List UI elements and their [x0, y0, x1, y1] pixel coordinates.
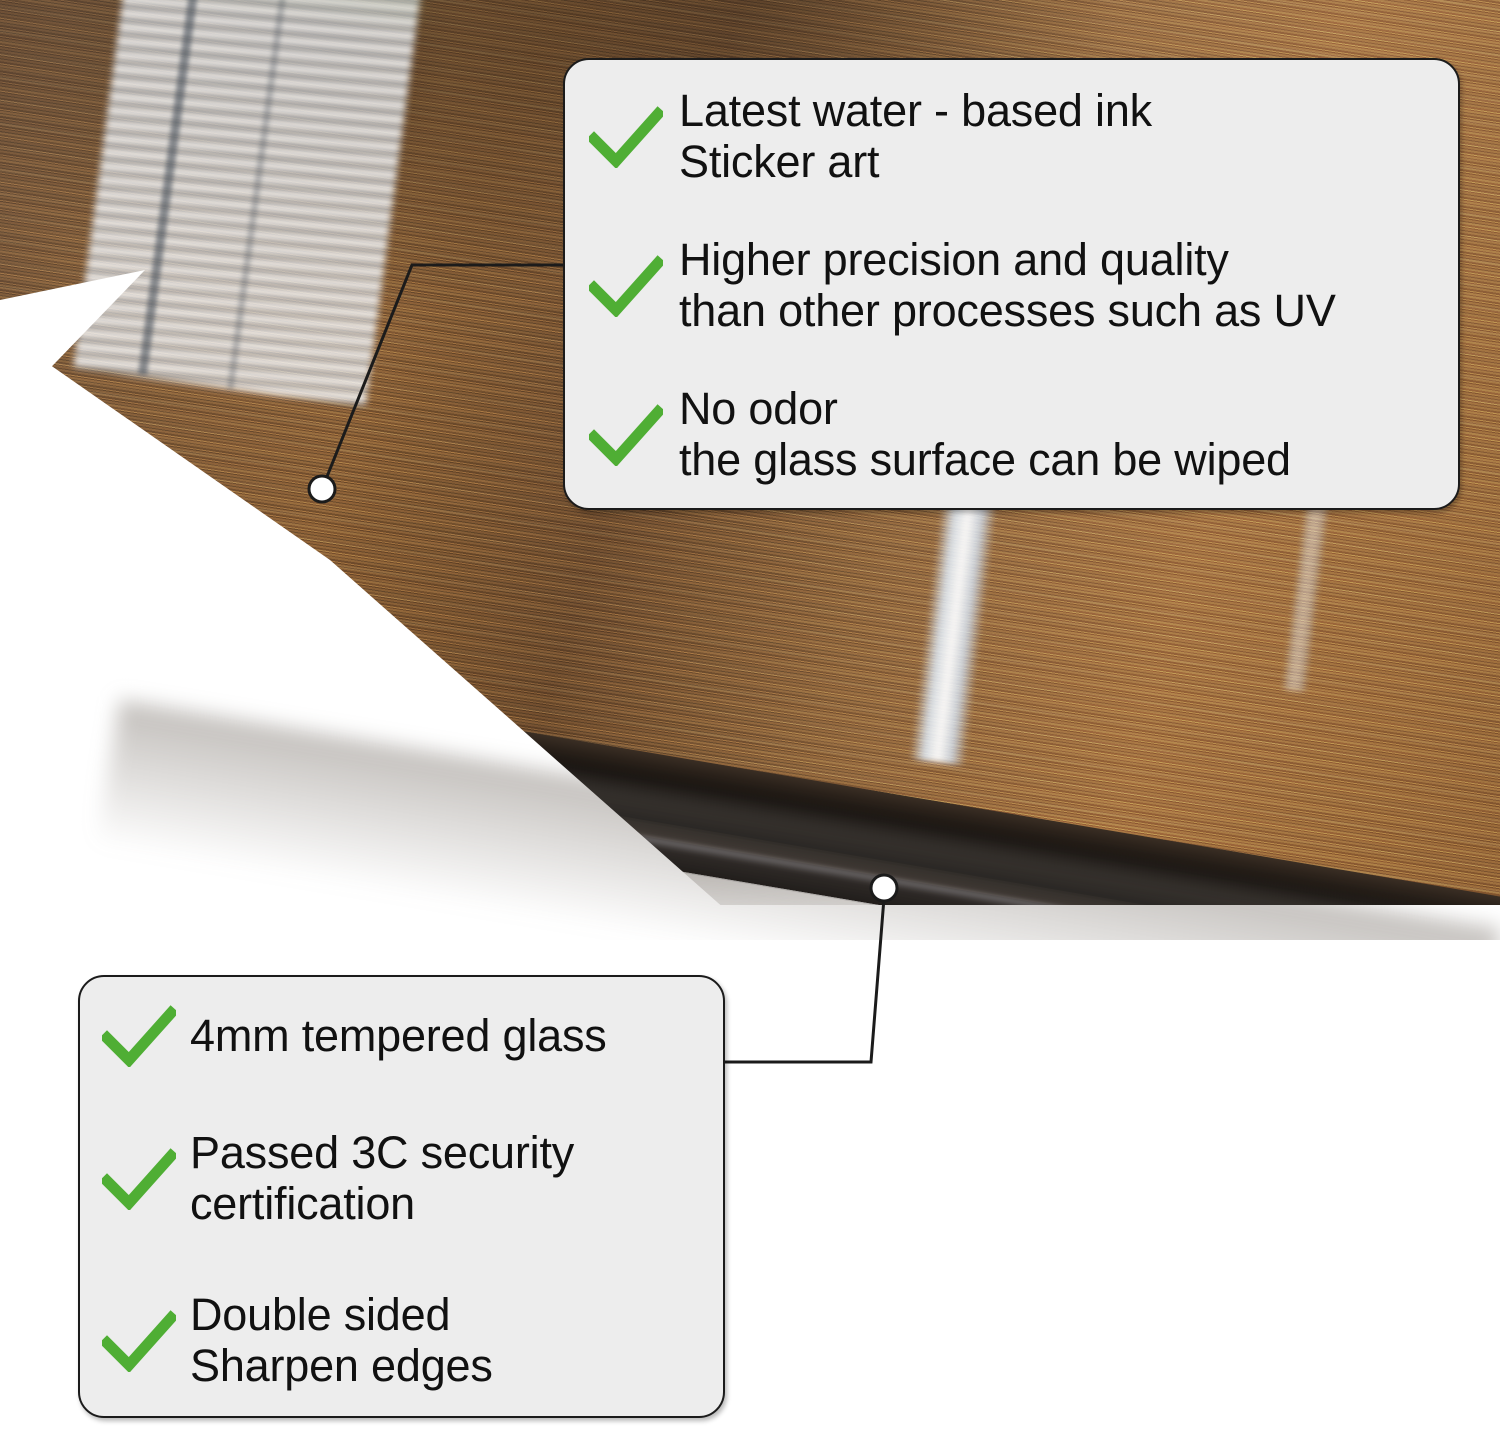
feature-item: Double sided Sharpen edges	[102, 1290, 703, 1392]
feature-item: Latest water - based ink Sticker art	[589, 86, 1436, 188]
callout-card-top: Latest water - based ink Sticker art Hig…	[563, 58, 1460, 510]
feature-label: Double sided Sharpen edges	[190, 1290, 493, 1392]
check-icon	[589, 106, 663, 168]
check-icon	[102, 1310, 176, 1372]
feature-label: Latest water - based ink Sticker art	[679, 86, 1152, 188]
feature-label: No odor the glass surface can be wiped	[679, 384, 1291, 486]
callout-card-bottom: 4mm tempered glass Passed 3C security ce…	[78, 975, 725, 1418]
check-icon	[102, 1005, 176, 1067]
product-feature-graphic: Latest water - based ink Sticker art Hig…	[0, 0, 1500, 1433]
feature-item: No odor the glass surface can be wiped	[589, 384, 1436, 486]
check-icon	[589, 255, 663, 317]
feature-item: Higher precision and quality than other …	[589, 235, 1436, 337]
feature-item: 4mm tempered glass	[102, 1005, 703, 1067]
check-icon	[102, 1148, 176, 1210]
feature-label: Passed 3C security certification	[190, 1128, 574, 1230]
feature-label: 4mm tempered glass	[190, 1011, 607, 1062]
feature-item: Passed 3C security certification	[102, 1128, 703, 1230]
feature-label: Higher precision and quality than other …	[679, 235, 1336, 337]
check-icon	[589, 404, 663, 466]
